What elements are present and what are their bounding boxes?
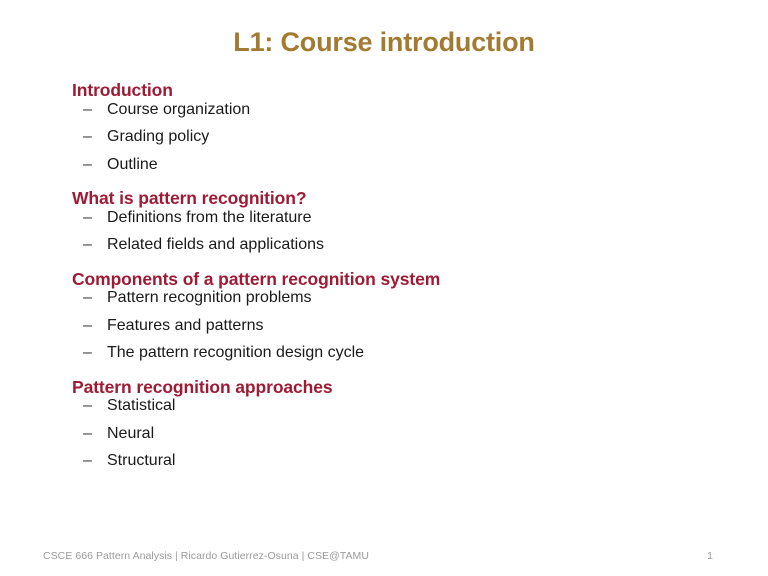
section-heading: Components of a pattern recognition syst… <box>72 265 712 289</box>
dash-bullet-icon: – <box>83 453 107 469</box>
list-item: – Definitions from the literature <box>72 210 712 238</box>
bullet-list: – Definitions from the literature – Rela… <box>72 210 712 265</box>
dash-bullet-icon: – <box>83 129 107 145</box>
list-item-label: Definitions from the literature <box>107 210 312 226</box>
page-title: L1: Course introduction <box>0 27 768 58</box>
list-item: – Outline <box>72 157 712 185</box>
footer-text: CSCE 666 Pattern Analysis | Ricardo Guti… <box>43 550 369 562</box>
section-what-is-pattern-recognition: What is pattern recognition? – Definitio… <box>72 184 712 265</box>
dash-bullet-icon: – <box>83 102 107 118</box>
dash-bullet-icon: – <box>83 157 107 173</box>
list-item-label: Course organization <box>107 102 250 118</box>
list-item: – Related fields and applications <box>72 237 712 265</box>
list-item: – Statistical <box>72 398 712 426</box>
dash-bullet-icon: – <box>83 398 107 414</box>
section-heading: What is pattern recognition? <box>72 184 712 208</box>
dash-bullet-icon: – <box>83 237 107 253</box>
list-item-label: Related fields and applications <box>107 237 324 253</box>
section-pattern-recognition-approaches: Pattern recognition approaches – Statist… <box>72 373 712 481</box>
dash-bullet-icon: – <box>83 345 107 361</box>
bullet-list: – Statistical – Neural – Structural <box>72 398 712 481</box>
slide: L1: Course introduction Introduction – C… <box>0 0 768 576</box>
list-item: – Features and patterns <box>72 318 712 346</box>
dash-bullet-icon: – <box>83 290 107 306</box>
list-item-label: Statistical <box>107 398 175 414</box>
page-number: 1 <box>690 550 730 562</box>
list-item-label: Outline <box>107 157 158 173</box>
list-item: – The pattern recognition design cycle <box>72 345 712 373</box>
list-item: – Pattern recognition problems <box>72 290 712 318</box>
dash-bullet-icon: – <box>83 426 107 442</box>
bullet-list: – Pattern recognition problems – Feature… <box>72 290 712 373</box>
list-item-label: The pattern recognition design cycle <box>107 345 364 361</box>
section-heading: Pattern recognition approaches <box>72 373 712 397</box>
section-introduction: Introduction – Course organization – Gra… <box>72 82 712 184</box>
list-item: – Neural <box>72 426 712 454</box>
list-item-label: Neural <box>107 426 154 442</box>
section-components-of-a-pattern-recognition-system: Components of a pattern recognition syst… <box>72 265 712 373</box>
list-item: – Grading policy <box>72 129 712 157</box>
list-item-label: Pattern recognition problems <box>107 290 312 306</box>
list-item: – Course organization <box>72 102 712 130</box>
list-item: – Structural <box>72 453 712 481</box>
dash-bullet-icon: – <box>83 210 107 226</box>
bullet-list: – Course organization – Grading policy –… <box>72 102 712 185</box>
list-item-label: Grading policy <box>107 129 209 145</box>
list-item-label: Features and patterns <box>107 318 264 334</box>
list-item-label: Structural <box>107 453 175 469</box>
section-heading: Introduction <box>72 82 712 100</box>
slide-body: Introduction – Course organization – Gra… <box>72 82 712 481</box>
dash-bullet-icon: – <box>83 318 107 334</box>
